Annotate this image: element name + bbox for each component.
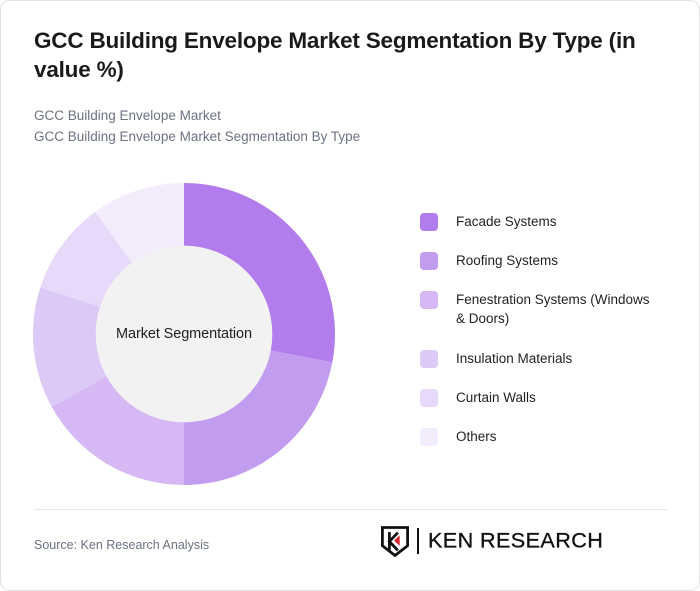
legend-swatch (420, 389, 438, 407)
page-title: GCC Building Envelope Market Segmentatio… (34, 27, 669, 85)
footer-divider (34, 509, 668, 510)
legend-label: Roofing Systems (456, 251, 558, 270)
chart-header: GCC Building Envelope Market Segmentatio… (34, 27, 669, 148)
brand-separator (417, 528, 419, 554)
breadcrumb-segmentation: GCC Building Envelope Market Segmentatio… (34, 126, 669, 148)
breadcrumb-market: GCC Building Envelope Market (34, 105, 669, 127)
legend-item[interactable]: Fenestration Systems (Windows & Doors) (420, 290, 670, 328)
legend-swatch (420, 252, 438, 270)
donut-center-hole (96, 246, 273, 423)
legend-label: Others (456, 427, 497, 446)
legend-label: Curtain Walls (456, 388, 536, 407)
legend-item[interactable]: Roofing Systems (420, 251, 670, 270)
legend-swatch (420, 350, 438, 368)
ken-research-shield-icon (381, 526, 409, 557)
brand-logo: KEN RESEARCH (381, 525, 668, 557)
legend-item[interactable]: Curtain Walls (420, 388, 670, 407)
donut-chart: Market Segmentation (33, 183, 335, 485)
legend-item[interactable]: Others (420, 427, 670, 446)
legend-label: Insulation Materials (456, 349, 572, 368)
brand-wordmark: KEN RESEARCH (428, 529, 668, 553)
chart-card: GCC Building Envelope Market Segmentatio… (0, 0, 700, 591)
source-note: Source: Ken Research Analysis (34, 538, 209, 552)
legend-item[interactable]: Facade Systems (420, 212, 670, 231)
legend-swatch (420, 291, 438, 309)
svg-text:KEN RESEARCH: KEN RESEARCH (428, 529, 603, 552)
legend-item[interactable]: Insulation Materials (420, 349, 670, 368)
legend-swatch (420, 428, 438, 446)
subtitle-block: GCC Building Envelope Market GCC Buildin… (34, 105, 669, 149)
legend-swatch (420, 213, 438, 231)
legend-label: Fenestration Systems (Windows & Doors) (456, 290, 656, 328)
chart-area: Market Segmentation Facade SystemsRoofin… (1, 169, 700, 499)
chart-legend: Facade SystemsRoofing SystemsFenestratio… (420, 212, 670, 446)
legend-label: Facade Systems (456, 212, 557, 231)
donut-svg (33, 183, 335, 485)
